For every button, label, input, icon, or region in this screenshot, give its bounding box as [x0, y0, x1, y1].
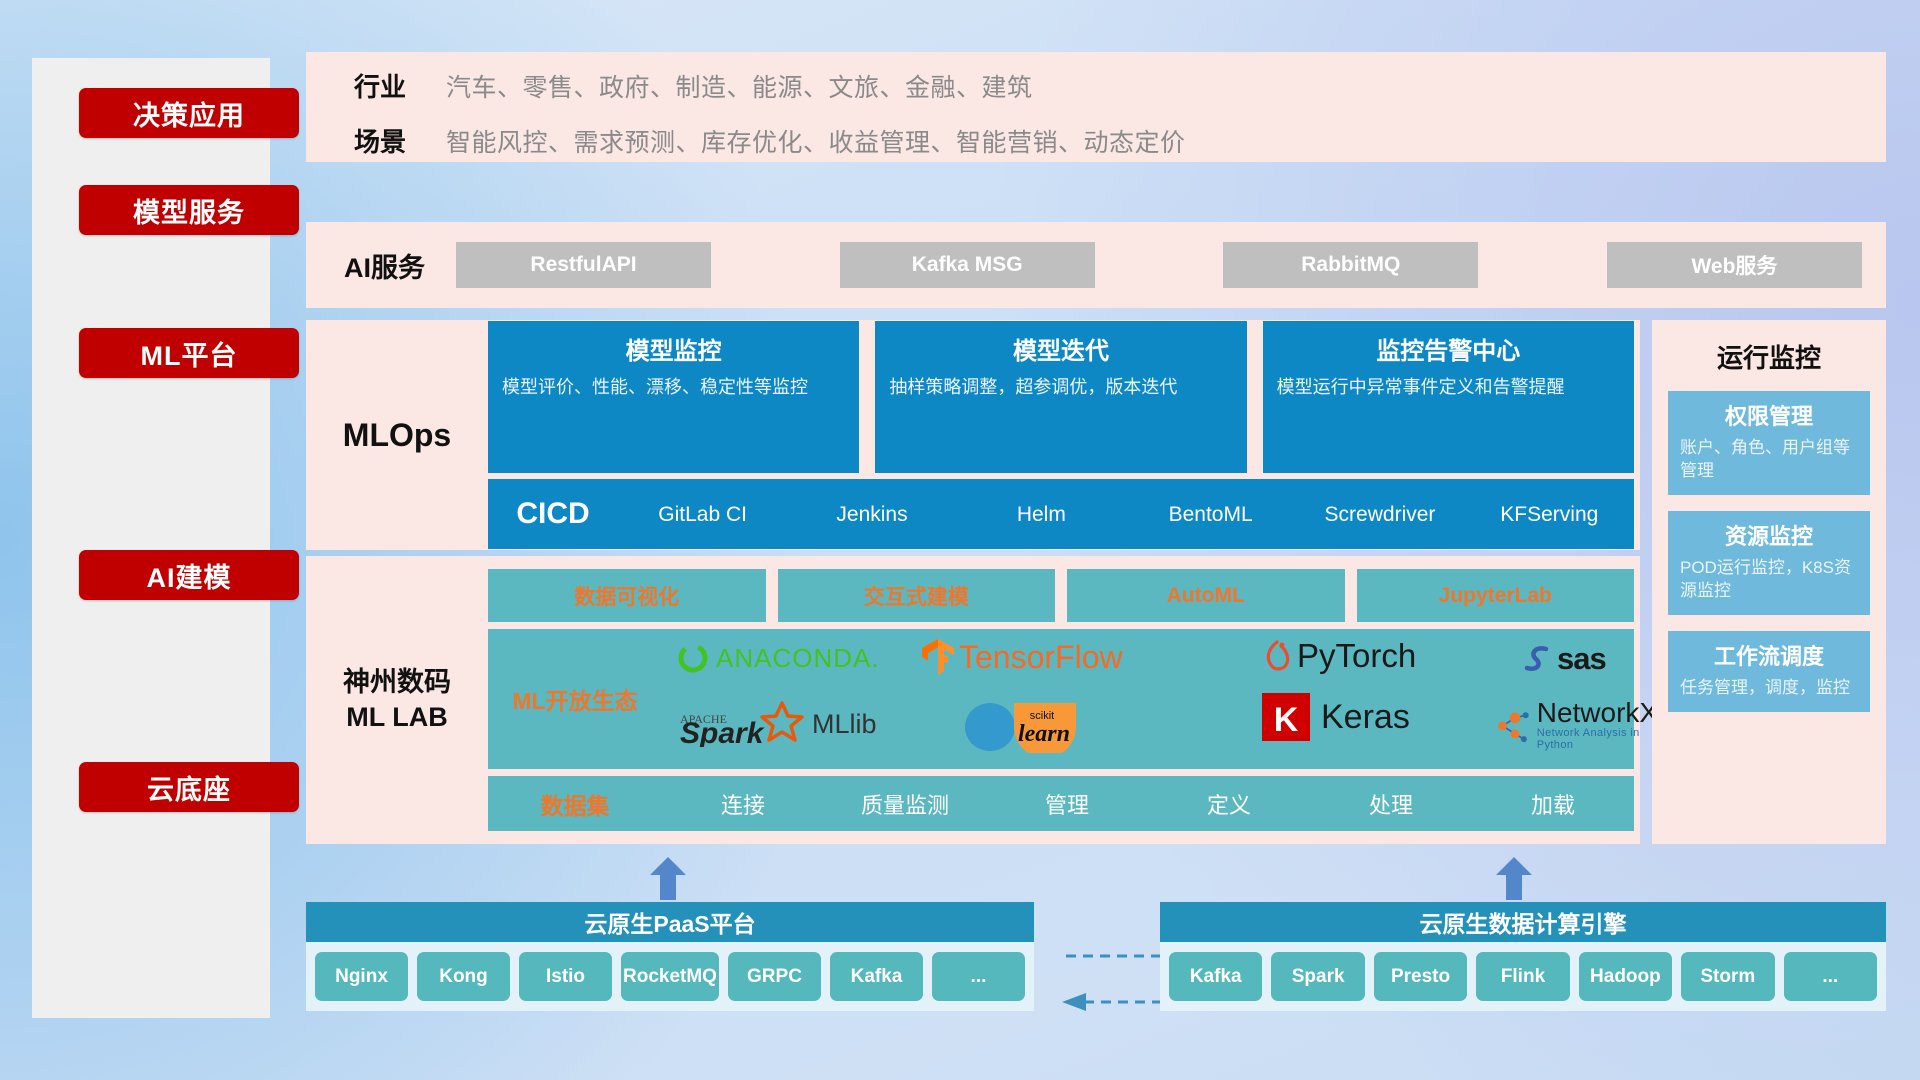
pytorch-icon — [1262, 638, 1292, 674]
dataset-item-load[interactable]: 加载 — [1472, 788, 1634, 820]
cicd-item-kfserving[interactable]: KFServing — [1465, 502, 1634, 526]
architecture-diagram: 决策应用 模型服务 ML平台 AI建模 云底座 行业 汽车、零售、政府、制造、能… — [0, 0, 1920, 1080]
mlops-band: MLOps 模型监控 模型评价、性能、漂移、稳定性等监控 模型迭代 抽样策略调整… — [306, 320, 1640, 550]
ml-lab-label-en: ML LAB — [306, 700, 488, 735]
rail-tag-decision[interactable]: 决策应用 — [79, 88, 299, 138]
layer-rail: 决策应用 模型服务 ML平台 AI建模 云底座 — [32, 58, 270, 1018]
engine-chip-flink[interactable]: Flink — [1476, 952, 1569, 1001]
tensorflow-label: TensorFlow — [959, 639, 1123, 676]
engine-title: 云原生数据计算引擎 — [1160, 902, 1886, 942]
up-arrow-icon-paas — [646, 856, 690, 900]
cicd-item-bentoml[interactable]: BentoML — [1126, 502, 1295, 526]
paas-chip-istio[interactable]: Istio — [519, 952, 612, 1001]
dataset-item-quality[interactable]: 质量监测 — [824, 788, 986, 820]
runtime-monitoring-panel: 运行监控 权限管理 账户、角色、用户组等管理 资源监控 POD运行监控，K8S资… — [1652, 320, 1886, 844]
rail-tag-model-serving[interactable]: 模型服务 — [79, 185, 299, 235]
paas-chip-kong[interactable]: Kong — [417, 952, 510, 1001]
tool-chip-jupyterlab[interactable]: JupyterLab — [1357, 569, 1635, 622]
cicd-item-screwdriver[interactable]: Screwdriver — [1295, 502, 1464, 526]
scikit-learn-logo: scikit learn — [962, 699, 1092, 753]
dataset-item-process[interactable]: 处理 — [1310, 788, 1472, 820]
card-title: 模型监控 — [502, 331, 845, 366]
cicd-item-row: GitLab CI Jenkins Helm BentoML Screwdriv… — [618, 502, 1634, 526]
card-title: 权限管理 — [1680, 399, 1858, 431]
svg-text:K: K — [1274, 701, 1299, 739]
mlops-label: MLOps — [306, 417, 488, 454]
pytorch-label: PyTorch — [1297, 637, 1416, 675]
paas-chip-more[interactable]: ... — [932, 952, 1025, 1001]
cicd-label: CICD — [488, 497, 618, 531]
tool-chip-data-visualization[interactable]: 数据可视化 — [488, 569, 766, 622]
dataset-item-define[interactable]: 定义 — [1148, 788, 1310, 820]
engine-chip-more[interactable]: ... — [1784, 952, 1877, 1001]
ai-service-band: AI服务 RestfulAPI Kafka MSG RabbitMQ Web服务 — [306, 222, 1886, 308]
scenario-row: 场景 智能风控、需求预测、库存优化、收益管理、智能营销、动态定价 — [306, 113, 1886, 168]
svg-text:learn: learn — [1018, 721, 1070, 747]
mlops-card-model-iteration[interactable]: 模型迭代 抽样策略调整，超参调优，版本迭代 — [875, 321, 1246, 473]
dataset-item-manage[interactable]: 管理 — [986, 788, 1148, 820]
ai-service-chip-row: RestfulAPI Kafka MSG RabbitMQ Web服务 — [456, 242, 1886, 288]
tensorflow-icon — [920, 637, 956, 677]
ml-ecosystem-row: ML开放生态 ANACONDA. — [488, 629, 1634, 769]
paas-chip-nginx[interactable]: Nginx — [315, 952, 408, 1001]
service-chip-restfulapi[interactable]: RestfulAPI — [456, 242, 711, 288]
service-chip-kafka-msg[interactable]: Kafka MSG — [840, 242, 1095, 288]
ml-ecosystem-logos: ANACONDA. TensorFlow — [662, 629, 1634, 769]
ml-lab-label-cn: 神州数码 — [306, 665, 488, 700]
card-desc: 任务管理，调度，监控 — [1680, 677, 1858, 700]
mlops-content: 模型监控 模型评价、性能、漂移、稳定性等监控 模型迭代 抽样策略调整，超参调优，… — [488, 321, 1640, 549]
mlops-card-alert-center[interactable]: 监控告警中心 模型运行中异常事件定义和告警提醒 — [1263, 321, 1634, 473]
monitoring-card-resource[interactable]: 资源监控 POD运行监控，K8S资源监控 — [1668, 511, 1870, 615]
dataset-item-connect[interactable]: 连接 — [662, 788, 824, 820]
card-desc: 账户、角色、用户组等管理 — [1680, 437, 1858, 483]
rail-tag-ai-modeling[interactable]: AI建模 — [79, 550, 299, 600]
industry-row: 行业 汽车、零售、政府、制造、能源、文旅、金融、建筑 — [306, 58, 1886, 113]
mlops-card-row: 模型监控 模型评价、性能、漂移、稳定性等监控 模型迭代 抽样策略调整，超参调优，… — [488, 321, 1634, 473]
paas-title: 云原生PaaS平台 — [306, 902, 1034, 942]
keras-logo: K Keras — [1260, 691, 1410, 743]
paas-chip-row: Nginx Kong Istio RocketMQ GRPC Kafka ... — [306, 942, 1034, 1011]
runtime-monitoring-title: 运行监控 — [1668, 338, 1870, 375]
industry-label: 行业 — [306, 67, 446, 104]
monitoring-card-permission[interactable]: 权限管理 账户、角色、用户组等管理 — [1668, 391, 1870, 495]
card-desc: 抽样策略调整，超参调优，版本迭代 — [889, 375, 1232, 401]
tool-chip-interactive-modeling[interactable]: 交互式建模 — [778, 569, 1056, 622]
card-title: 模型迭代 — [889, 331, 1232, 366]
ml-ecosystem-label: ML开放生态 — [488, 682, 662, 716]
cloud-native-data-engine-box: 云原生数据计算引擎 Kafka Spark Presto Flink Hadoo… — [1160, 902, 1886, 1011]
paas-chip-grpc[interactable]: GRPC — [728, 952, 821, 1001]
keras-icon: K — [1260, 691, 1312, 743]
card-title: 工作流调度 — [1680, 639, 1858, 671]
networkx-label: NetworkX — [1537, 699, 1664, 727]
cicd-item-gitlab-ci[interactable]: GitLab CI — [618, 502, 787, 526]
service-chip-rabbitmq[interactable]: RabbitMQ — [1223, 242, 1478, 288]
scenario-values: 智能风控、需求预测、库存优化、收益管理、智能营销、动态定价 — [446, 123, 1186, 159]
keras-label: Keras — [1321, 698, 1410, 737]
mlops-card-model-monitoring[interactable]: 模型监控 模型评价、性能、漂移、稳定性等监控 — [488, 321, 859, 473]
svg-text:Spark: Spark — [680, 717, 765, 747]
dataset-item-row: 连接 质量监测 管理 定义 处理 加载 — [662, 788, 1634, 820]
cloud-native-paas-box: 云原生PaaS平台 Nginx Kong Istio RocketMQ GRPC… — [306, 902, 1034, 1011]
dataset-bar: 数据集 连接 质量监测 管理 定义 处理 加载 — [488, 776, 1634, 831]
pytorch-logo: PyTorch — [1262, 637, 1416, 675]
up-arrow-icon-engine — [1492, 856, 1536, 900]
paas-chip-rocketmq[interactable]: RocketMQ — [621, 952, 719, 1001]
card-title: 资源监控 — [1680, 519, 1858, 551]
engine-chip-row: Kafka Spark Presto Flink Hadoop Storm ..… — [1160, 942, 1886, 1011]
engine-chip-storm[interactable]: Storm — [1681, 952, 1774, 1001]
spark-icon: APACHE Spark — [680, 701, 808, 747]
card-title: 监控告警中心 — [1277, 331, 1620, 366]
spark-mllib-logo: APACHE Spark MLlib — [680, 701, 877, 747]
scikit-learn-icon: scikit learn — [962, 699, 1092, 753]
networkx-logo: NetworkX Network Analysis in Python — [1492, 699, 1663, 751]
anaconda-icon — [676, 641, 710, 675]
service-chip-web[interactable]: Web服务 — [1607, 242, 1862, 288]
cicd-item-jenkins[interactable]: Jenkins — [787, 502, 956, 526]
cicd-item-helm[interactable]: Helm — [957, 502, 1126, 526]
card-desc: 模型评价、性能、漂移、稳定性等监控 — [502, 375, 845, 401]
engine-chip-hadoop[interactable]: Hadoop — [1579, 952, 1672, 1001]
tensorflow-logo: TensorFlow — [920, 637, 1123, 677]
modeling-tool-row: 数据可视化 交互式建模 AutoML JupyterLab — [488, 569, 1634, 622]
modeling-content: 数据可视化 交互式建模 AutoML JupyterLab ML开放生态 ANA… — [488, 569, 1640, 831]
paas-chip-kafka[interactable]: Kafka — [830, 952, 923, 1001]
ai-modeling-band: 神州数码 ML LAB 数据可视化 交互式建模 AutoML JupyterLa… — [306, 556, 1640, 844]
cicd-bar: CICD GitLab CI Jenkins Helm BentoML Scre… — [488, 479, 1634, 549]
card-desc: 模型运行中异常事件定义和告警提醒 — [1277, 375, 1620, 401]
engine-chip-presto[interactable]: Presto — [1374, 952, 1467, 1001]
networkx-icon — [1492, 702, 1533, 748]
engine-chip-kafka[interactable]: Kafka — [1169, 952, 1262, 1001]
industry-values: 汽车、零售、政府、制造、能源、文旅、金融、建筑 — [446, 68, 1033, 104]
ai-service-label: AI服务 — [306, 246, 456, 285]
card-desc: POD运行监控，K8S资源监控 — [1680, 557, 1858, 603]
sas-logo: sas — [1522, 641, 1606, 677]
anaconda-logo: ANACONDA. — [676, 641, 880, 675]
monitoring-card-workflow[interactable]: 工作流调度 任务管理，调度，监控 — [1668, 631, 1870, 712]
tool-chip-automl[interactable]: AutoML — [1067, 569, 1345, 622]
ml-lab-label: 神州数码 ML LAB — [306, 665, 488, 734]
rail-tag-cloud-base[interactable]: 云底座 — [79, 762, 299, 812]
rail-tag-ml-platform[interactable]: ML平台 — [79, 328, 299, 378]
sas-label: sas — [1557, 641, 1606, 677]
decision-application-band: 行业 汽车、零售、政府、制造、能源、文旅、金融、建筑 场景 智能风控、需求预测、… — [306, 52, 1886, 162]
dataset-label: 数据集 — [488, 787, 662, 821]
anaconda-label: ANACONDA. — [716, 643, 880, 674]
engine-chip-spark[interactable]: Spark — [1271, 952, 1364, 1001]
sas-icon — [1522, 642, 1556, 676]
scenario-label: 场景 — [306, 122, 446, 159]
